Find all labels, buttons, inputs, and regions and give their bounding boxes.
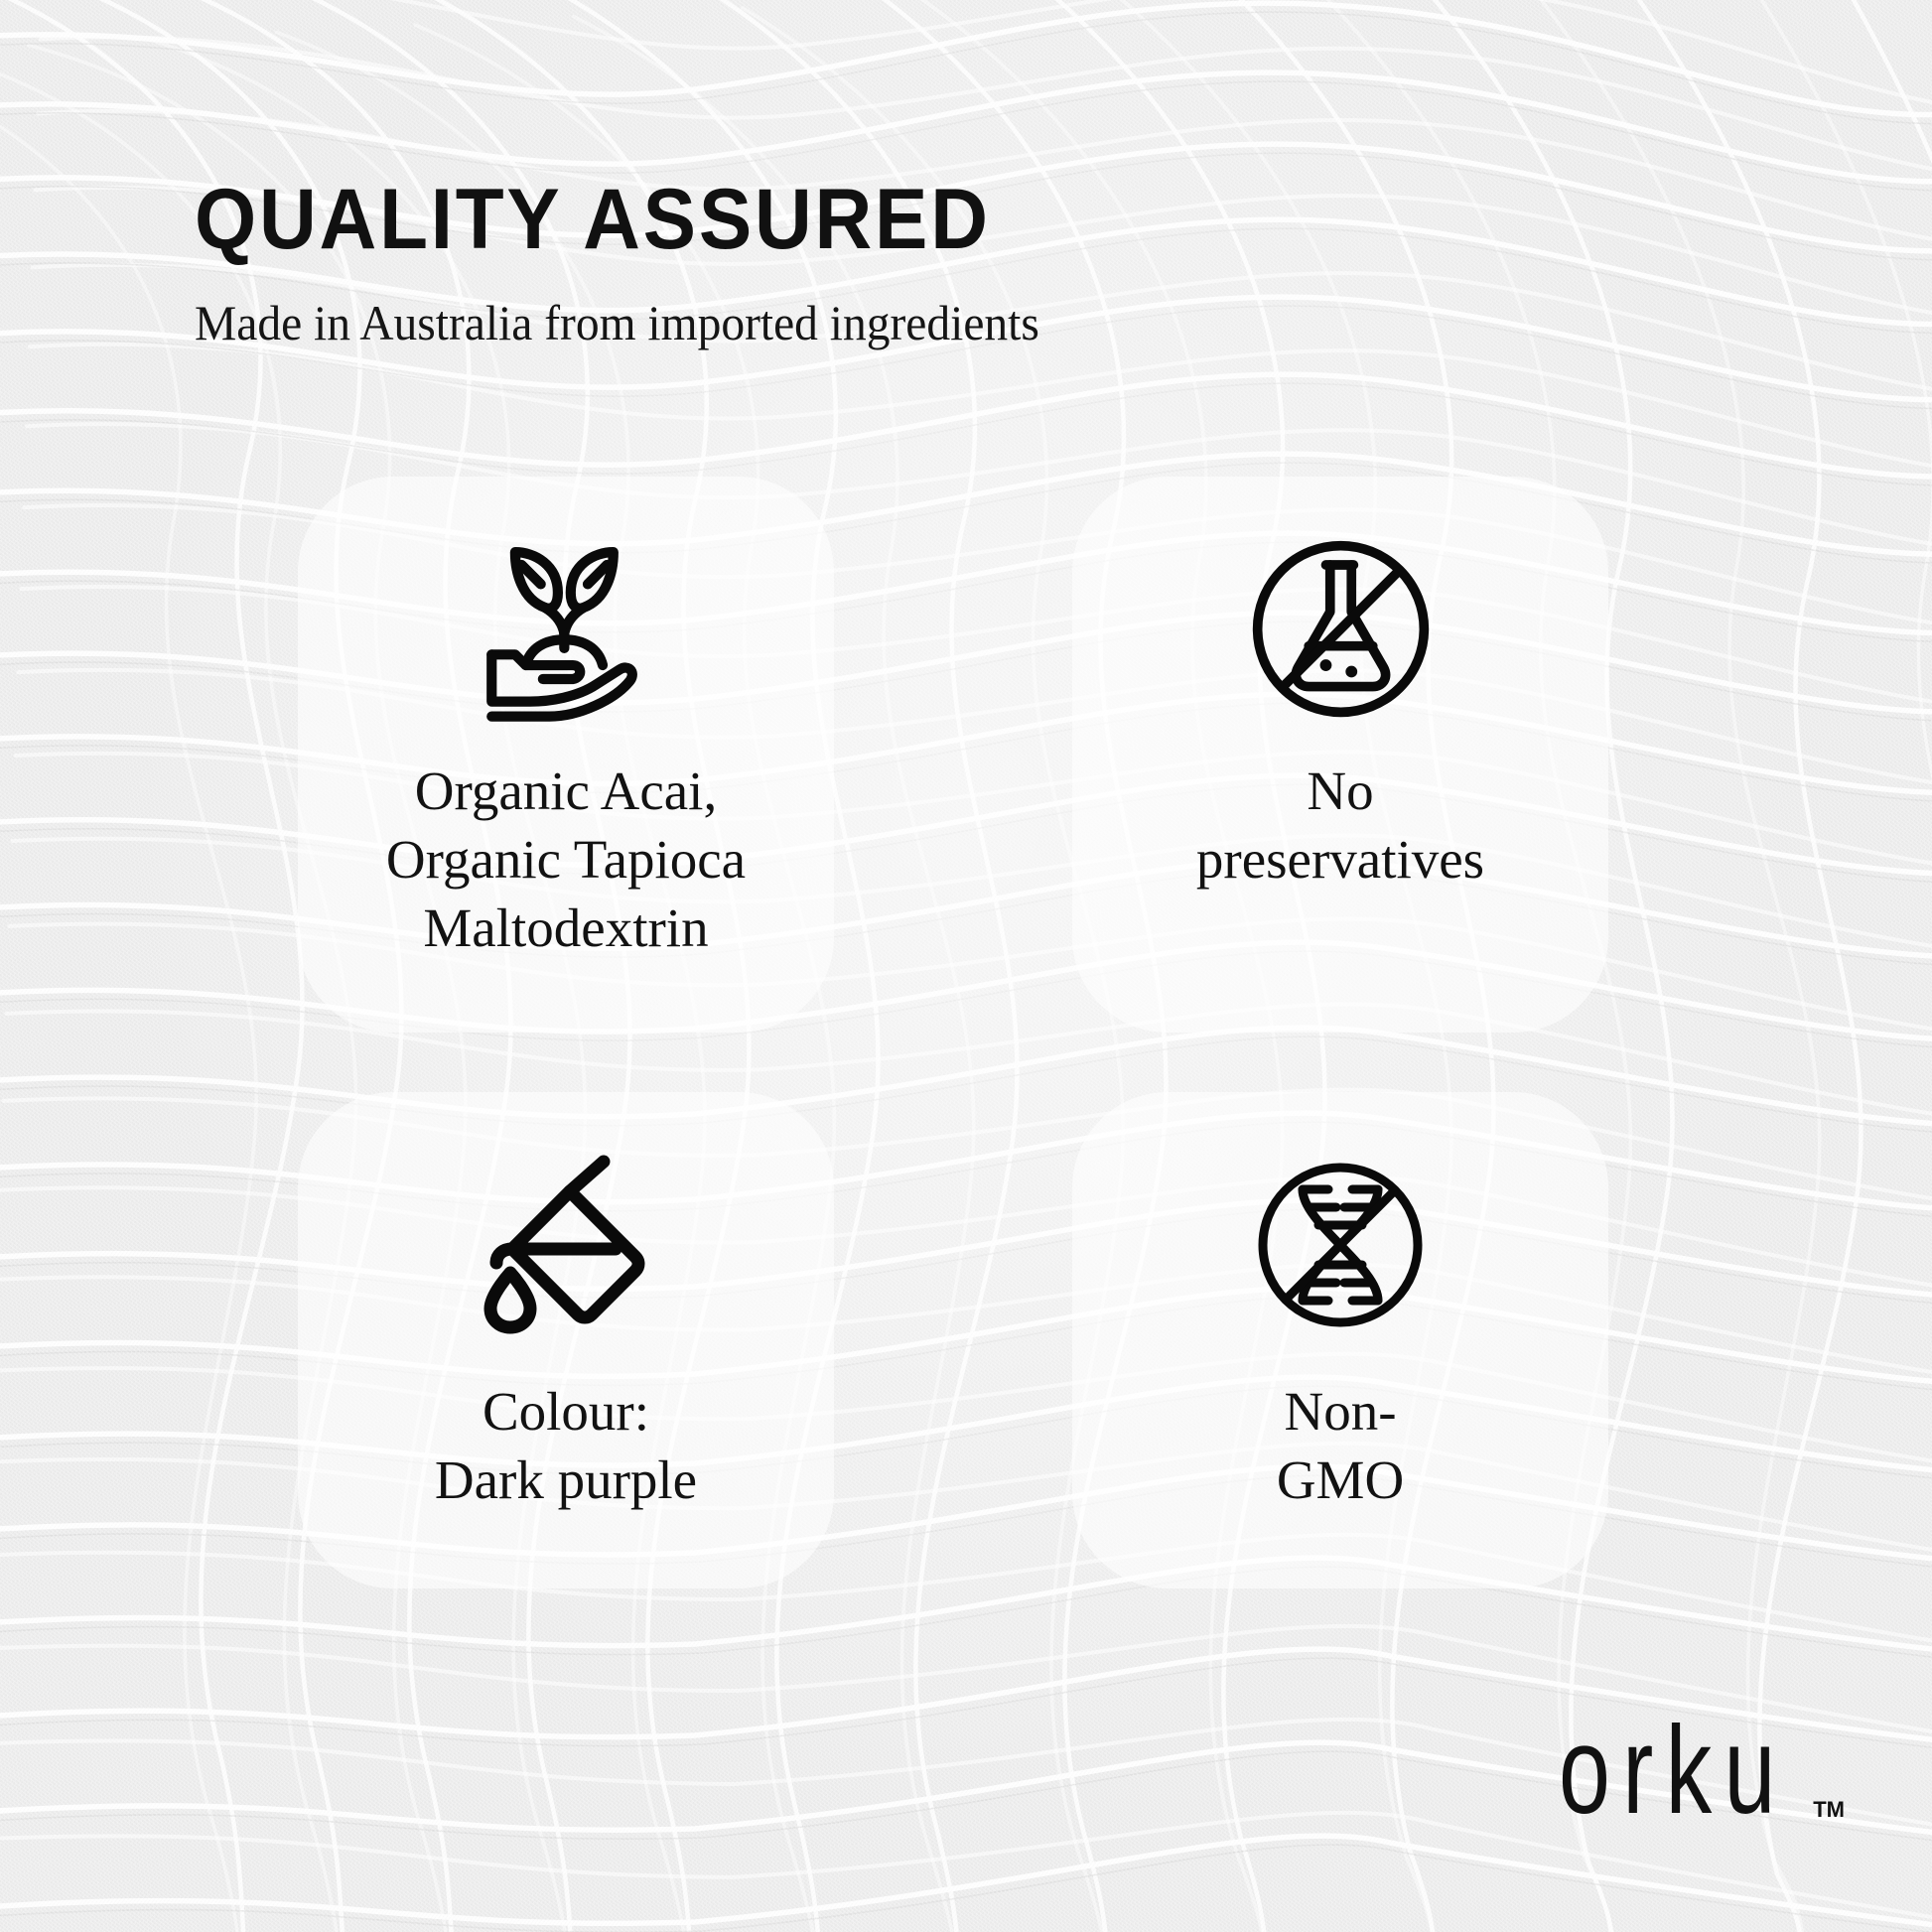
feature-card-label: Organic Acai, Organic Tapioca Maltodextr… (376, 758, 756, 962)
no-flask-icon (1234, 522, 1448, 736)
feature-card-label: Non- GMO (1267, 1378, 1414, 1515)
paint-bucket-icon (467, 1146, 665, 1344)
page-title: QUALITY ASSURED (195, 177, 1022, 262)
brand-logo-word: orku (1559, 1709, 1788, 1833)
feature-card-grid: Organic Acai, Organic Tapioca Maltodextr… (298, 477, 1668, 1588)
trademark-symbol: TM (1813, 1797, 1845, 1823)
feature-card-label: No preservatives (1186, 758, 1494, 895)
brand-logo: orku TM (1559, 1727, 1845, 1833)
feature-card-label: Colour: Dark purple (425, 1378, 707, 1515)
feature-card-non-gmo: Non- GMO (1072, 1092, 1608, 1588)
header: QUALITY ASSURED Made in Australia from i… (195, 177, 1084, 350)
feature-card-colour: Colour: Dark purple (298, 1092, 834, 1588)
hand-holding-sprout-icon (460, 522, 673, 736)
page-subtitle: Made in Australia from imported ingredie… (195, 296, 1039, 350)
feature-card-ingredients: Organic Acai, Organic Tapioca Maltodextr… (298, 477, 834, 1033)
no-dna-icon (1241, 1146, 1440, 1344)
infographic-canvas: QUALITY ASSURED Made in Australia from i… (0, 0, 1932, 1932)
feature-card-no-preservatives: No preservatives (1072, 477, 1608, 1033)
